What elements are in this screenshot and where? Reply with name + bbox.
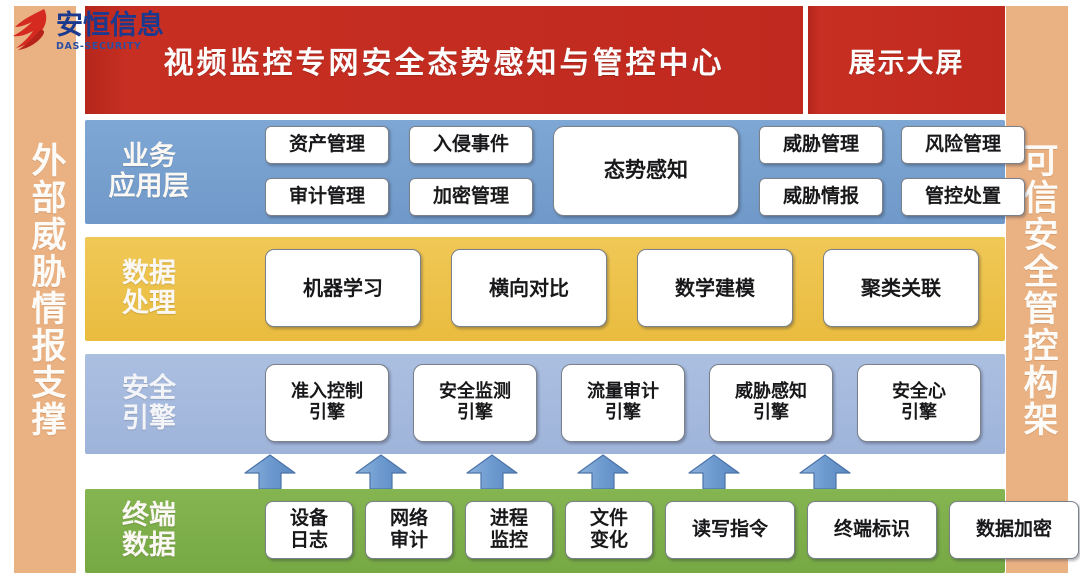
upward-data-flow-arrow-4 bbox=[688, 454, 740, 490]
layer-title-terminal: 终端 数据 bbox=[85, 501, 213, 561]
card-business-6[interactable]: 风险管理 bbox=[901, 126, 1025, 164]
layer-business-application: 业务 应用层 资产管理入侵事件审计管理加密管理态势感知威胁管理风险管理威胁情报管… bbox=[85, 120, 1005, 224]
card-terminal-data-1[interactable]: 网络 审计 bbox=[365, 501, 453, 559]
layer-body-business: 资产管理入侵事件审计管理加密管理态势感知威胁管理风险管理威胁情报管控处置 bbox=[213, 120, 1005, 224]
layer-terminal-data: 终端 数据 设备 日志网络 审计进程 监控文件 变化读写指令终端标识数据加密 bbox=[85, 489, 1005, 573]
left-pillar-external-threat-intel: 外部威胁情报支撑 bbox=[14, 6, 76, 573]
card-business-7[interactable]: 威胁情报 bbox=[759, 178, 883, 216]
card-terminal-data-0[interactable]: 设备 日志 bbox=[265, 501, 353, 559]
card-data-processing-1[interactable]: 横向对比 bbox=[451, 249, 607, 327]
layer-title-data: 数据 处理 bbox=[85, 259, 213, 319]
upward-data-flow-arrow-1 bbox=[355, 454, 407, 490]
card-terminal-data-3[interactable]: 文件 变化 bbox=[565, 501, 653, 559]
upward-data-flow-arrow-5 bbox=[799, 454, 851, 490]
card-business-4[interactable]: 态势感知 bbox=[553, 126, 739, 216]
card-business-0[interactable]: 资产管理 bbox=[265, 126, 389, 164]
layer-body-data: 机器学习横向对比数学建模聚类关联 bbox=[213, 237, 1005, 341]
right-pillar-trusted-security-framework: 可信安全管控构架 bbox=[1006, 6, 1068, 573]
card-business-8[interactable]: 管控处置 bbox=[901, 178, 1025, 216]
card-security-engine-4[interactable]: 安全心 引擎 bbox=[857, 364, 981, 442]
upward-data-flow-arrow-3 bbox=[577, 454, 629, 490]
card-data-processing-2[interactable]: 数学建模 bbox=[637, 249, 793, 327]
header-display-screen-banner: 展示大屏 bbox=[808, 6, 1005, 114]
card-data-processing-0[interactable]: 机器学习 bbox=[265, 249, 421, 327]
card-terminal-data-2[interactable]: 进程 监控 bbox=[465, 501, 553, 559]
card-data-processing-3[interactable]: 聚类关联 bbox=[823, 249, 979, 327]
card-security-engine-0[interactable]: 准入控制 引擎 bbox=[265, 364, 389, 442]
card-security-engine-2[interactable]: 流量审计 引擎 bbox=[561, 364, 685, 442]
upward-data-flow-arrow-2 bbox=[466, 454, 518, 490]
upward-data-flow-arrow-0 bbox=[244, 454, 296, 490]
card-business-3[interactable]: 加密管理 bbox=[409, 178, 533, 216]
card-business-1[interactable]: 入侵事件 bbox=[409, 126, 533, 164]
layer-data-processing: 数据 处理 机器学习横向对比数学建模聚类关联 bbox=[85, 237, 1005, 341]
architecture-diagram: 外部威胁情报支撑 可信安全管控构架 视频监控专网安全态势感知与管控中心 展示大屏… bbox=[0, 0, 1080, 577]
card-security-engine-1[interactable]: 安全监测 引擎 bbox=[413, 364, 537, 442]
arrow-band bbox=[85, 454, 1005, 490]
card-terminal-data-4[interactable]: 读写指令 bbox=[665, 501, 795, 559]
page-title: 视频监控专网安全态势感知与管控中心 bbox=[164, 38, 725, 82]
header-side-title: 展示大屏 bbox=[849, 41, 965, 80]
card-business-2[interactable]: 审计管理 bbox=[265, 178, 389, 216]
card-business-5[interactable]: 威胁管理 bbox=[759, 126, 883, 164]
left-pillar-label: 外部威胁情报支撑 bbox=[26, 142, 63, 438]
header-row: 视频监控专网安全态势感知与管控中心 展示大屏 bbox=[85, 6, 1005, 114]
card-security-engine-3[interactable]: 威胁感知 引擎 bbox=[709, 364, 833, 442]
layer-body-terminal: 设备 日志网络 审计进程 监控文件 变化读写指令终端标识数据加密 bbox=[213, 489, 1005, 573]
header-main-banner: 视频监控专网安全态势感知与管控中心 bbox=[85, 6, 803, 114]
card-terminal-data-5[interactable]: 终端标识 bbox=[807, 501, 937, 559]
layer-title-engine: 安全 引擎 bbox=[85, 374, 213, 434]
layer-title-business: 业务 应用层 bbox=[85, 142, 213, 202]
card-terminal-data-6[interactable]: 数据加密 bbox=[949, 501, 1079, 559]
layer-security-engine: 安全 引擎 准入控制 引擎安全监测 引擎流量审计 引擎威胁感知 引擎安全心 引擎 bbox=[85, 354, 1005, 454]
layer-body-engine: 准入控制 引擎安全监测 引擎流量审计 引擎威胁感知 引擎安全心 引擎 bbox=[213, 354, 1005, 454]
